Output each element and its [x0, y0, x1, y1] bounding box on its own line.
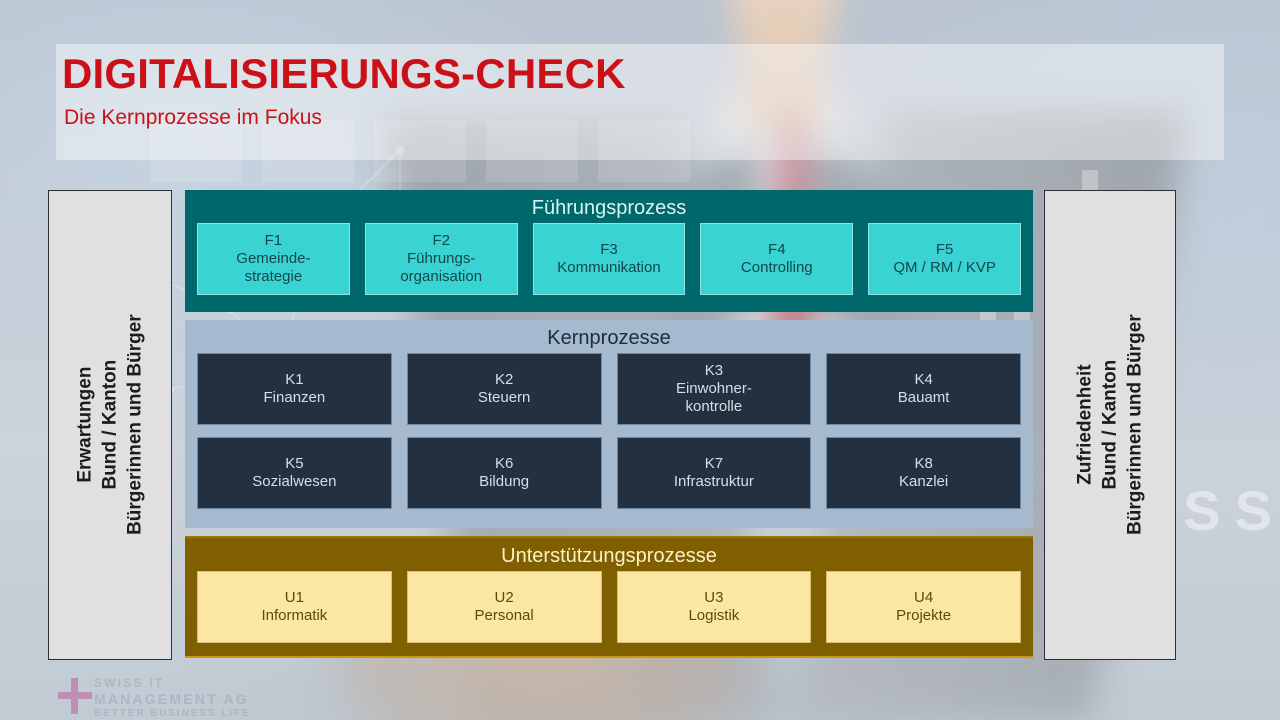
process-name: Kommunikation [557, 259, 660, 277]
process-code: F1 [265, 232, 283, 250]
process-code: U4 [914, 589, 933, 607]
process-code: K6 [495, 455, 513, 473]
process-diagram: Erwartungen Bund / Kanton Bürgerinnen un… [48, 190, 1176, 660]
process-cell-f3[interactable]: F3Kommunikation [533, 223, 686, 295]
left-column-line-2: Bund / Kanton [97, 315, 122, 536]
process-code: U1 [285, 589, 304, 607]
process-code: F5 [936, 241, 954, 259]
process-name: organisation [400, 268, 482, 286]
process-cell-k1[interactable]: K1Finanzen [197, 353, 392, 425]
cross-icon [58, 678, 92, 714]
leadership-process-band: Führungsprozess F1Gemeinde-strategieF2Fü… [185, 190, 1033, 312]
process-code: F4 [768, 241, 786, 259]
process-name: Logistik [688, 607, 739, 625]
process-cell-f2[interactable]: F2Führungs-organisation [365, 223, 518, 295]
process-name: Einwohner- [676, 380, 752, 398]
process-name: Bildung [479, 473, 529, 491]
process-code: U2 [495, 589, 514, 607]
process-code: U3 [704, 589, 723, 607]
left-column-line-3: Bürgerinnen und Bürger [123, 315, 148, 536]
process-name: Bauamt [898, 389, 950, 407]
process-code: K7 [705, 455, 723, 473]
process-code: F2 [432, 232, 450, 250]
right-column-line-2: Bund / Kanton [1097, 315, 1122, 536]
process-stack: Führungsprozess F1Gemeinde-strategieF2Fü… [185, 190, 1033, 658]
core-band-title: Kernprozesse [197, 322, 1021, 353]
process-code: F3 [600, 241, 618, 259]
core-row-1: K1FinanzenK2SteuernK3Einwohner-kontrolle… [197, 353, 1021, 425]
support-process-band: Unterstützungsprozesse U1InformatikU2Per… [185, 536, 1033, 658]
right-column-text: Zufriedenheit Bund / Kanton Bürgerinnen … [1072, 315, 1147, 536]
process-name: Informatik [261, 607, 327, 625]
process-name: Personal [475, 607, 534, 625]
right-column-line-1: Zufriedenheit [1072, 315, 1097, 536]
left-column-line-1: Erwartungen [72, 315, 97, 536]
process-name: kontrolle [686, 398, 743, 416]
process-cell-k8[interactable]: K8Kanzlei [826, 437, 1021, 509]
process-name: Sozialwesen [252, 473, 336, 491]
right-column-line-3: Bürgerinnen und Bürger [1123, 315, 1148, 536]
company-logo: SWISS IT MANAGEMENT AG BETTER BUSINESS L… [58, 676, 288, 718]
process-name: Steuern [478, 389, 531, 407]
process-name: Projekte [896, 607, 951, 625]
process-code: K3 [705, 362, 723, 380]
page-title: DIGITALISIERUNGS-CHECK [62, 50, 626, 98]
process-cell-k5[interactable]: K5Sozialwesen [197, 437, 392, 509]
process-cell-u4[interactable]: U4Projekte [826, 571, 1021, 643]
process-cell-f4[interactable]: F4Controlling [700, 223, 853, 295]
slide-canvas: ESS DIGITALISIERUNGS-CHECK Die Kernproze… [0, 0, 1280, 720]
process-name: Infrastruktur [674, 473, 754, 491]
process-cell-k4[interactable]: K4Bauamt [826, 353, 1021, 425]
process-code: K4 [914, 371, 932, 389]
process-name: Controlling [741, 259, 813, 277]
title-band: DIGITALISIERUNGS-CHECK Die Kernprozesse … [56, 44, 1224, 160]
logo-text: SWISS IT MANAGEMENT AG BETTER BUSINESS L… [94, 676, 250, 720]
process-cell-k6[interactable]: K6Bildung [407, 437, 602, 509]
right-satisfaction-column: Zufriedenheit Bund / Kanton Bürgerinnen … [1044, 190, 1176, 660]
process-cell-u2[interactable]: U2Personal [407, 571, 602, 643]
left-column-text: Erwartungen Bund / Kanton Bürgerinnen un… [72, 315, 147, 536]
process-cell-u3[interactable]: U3Logistik [617, 571, 812, 643]
process-name: strategie [245, 268, 303, 286]
core-process-band: Kernprozesse K1FinanzenK2SteuernK3Einwoh… [185, 320, 1033, 528]
process-name: Gemeinde- [236, 250, 310, 268]
process-name: QM / RM / KVP [893, 259, 996, 277]
left-expectations-column: Erwartungen Bund / Kanton Bürgerinnen un… [48, 190, 172, 660]
process-cell-f1[interactable]: F1Gemeinde-strategie [197, 223, 350, 295]
process-cell-f5[interactable]: F5QM / RM / KVP [868, 223, 1021, 295]
core-row-2: K5SozialwesenK6BildungK7InfrastrukturK8K… [197, 437, 1021, 509]
process-code: K5 [285, 455, 303, 473]
logo-line-2: MANAGEMENT AG [94, 691, 250, 708]
process-name: Kanzlei [899, 473, 948, 491]
support-row: U1InformatikU2PersonalU3LogistikU4Projek… [197, 571, 1021, 643]
process-code: K1 [285, 371, 303, 389]
logo-line-3: BETTER BUSINESS LIFE [94, 708, 250, 720]
process-cell-k3[interactable]: K3Einwohner-kontrolle [617, 353, 812, 425]
process-code: K8 [914, 455, 932, 473]
process-cell-k7[interactable]: K7Infrastruktur [617, 437, 812, 509]
support-band-title: Unterstützungsprozesse [197, 540, 1021, 571]
process-cell-k2[interactable]: K2Steuern [407, 353, 602, 425]
leadership-band-title: Führungsprozess [197, 192, 1021, 223]
process-name: Finanzen [264, 389, 326, 407]
process-name: Führungs- [407, 250, 475, 268]
process-code: K2 [495, 371, 513, 389]
logo-line-1: SWISS IT [94, 676, 250, 691]
page-subtitle: Die Kernprozesse im Fokus [64, 106, 322, 130]
process-cell-u1[interactable]: U1Informatik [197, 571, 392, 643]
leadership-row: F1Gemeinde-strategieF2Führungs-organisat… [197, 223, 1021, 295]
